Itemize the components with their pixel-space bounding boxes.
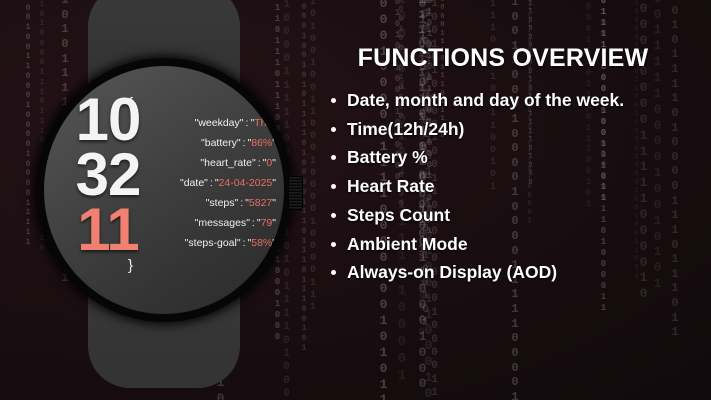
bullet-dot-icon [331, 127, 336, 132]
json-key: steps-goal [188, 237, 236, 249]
json-key: date [184, 177, 204, 189]
json-row: "date":"24-04-2025" [126, 178, 278, 189]
json-row: "steps":"5827" [126, 198, 278, 209]
watch-dial: 10 32 11 { "weekday":"Thu""battery":"86%… [44, 66, 284, 314]
json-value: 86% [251, 137, 272, 149]
bullet-dot-icon [331, 184, 336, 189]
json-quote: " [240, 117, 244, 129]
json-value: 58% [251, 237, 272, 249]
bullet-label: Ambient Mode [347, 234, 468, 254]
json-quote: " [272, 117, 276, 129]
json-key: steps [209, 197, 234, 209]
bullet-dot-icon [331, 213, 336, 218]
json-quote: " [272, 137, 276, 149]
bullet-item: Date, month and day of the week. [325, 88, 690, 114]
json-colon: : [241, 137, 248, 149]
bullet-label: Date, month and day of the week. [347, 90, 624, 110]
json-quote: " [272, 217, 276, 229]
json-colon: : [256, 157, 263, 169]
bullet-item: Steps Count [325, 203, 690, 229]
json-colon: : [250, 217, 257, 229]
slide-canvas: 0 1 1 1 0 0 1 0 1 0 1 0 0 1 0 0 1 1 0 0 … [0, 0, 711, 400]
functions-bullet-list: Date, month and day of the week.Time(12h… [325, 88, 690, 289]
json-value: 24-04-2025 [219, 177, 273, 189]
bullet-item: Battery % [325, 145, 690, 171]
json-colon: : [208, 177, 215, 189]
json-colon: : [241, 237, 248, 249]
json-value: 79 [261, 217, 273, 229]
json-close-brace: } [128, 258, 278, 273]
json-quote: " [272, 177, 276, 189]
bullet-item: Always-on Display (AOD) [325, 260, 690, 286]
json-row-list: "weekday":"Thu""battery":"86%""heart_rat… [126, 118, 278, 249]
json-quote: " [272, 157, 276, 169]
page-title: FUNCTIONS OVERVIEW [338, 44, 668, 73]
functions-overview-panel: FUNCTIONS OVERVIEW Date, month and day o… [320, 0, 711, 400]
crown-button[interactable] [288, 176, 303, 210]
json-value: Thu [254, 117, 272, 129]
json-key: battery [205, 137, 237, 149]
bullet-dot-icon [331, 242, 336, 247]
bullet-label: Heart Rate [347, 176, 435, 196]
bullet-label: Steps Count [347, 205, 450, 225]
smartwatch-illustration: 10 32 11 { "weekday":"Thu""battery":"86%… [0, 0, 320, 400]
bullet-label: Battery % [347, 147, 428, 167]
json-value: 5827 [249, 197, 272, 209]
bullet-label: Always-on Display (AOD) [347, 262, 557, 282]
bullet-dot-icon [331, 270, 336, 275]
json-row: "heart_rate":"0" [126, 158, 278, 169]
bullet-item: Time(12h/24h) [325, 117, 690, 143]
watch-json-panel: { "weekday":"Thu""battery":"86%""heart_r… [126, 96, 278, 273]
json-row: "battery":"86%" [126, 138, 278, 149]
json-row: "steps-goal":"58%" [126, 238, 278, 249]
json-key: messages [198, 217, 246, 229]
bullet-item: Heart Rate [325, 174, 690, 200]
json-quote: " [272, 237, 276, 249]
json-row: "messages":"79" [126, 218, 278, 229]
json-open-brace: { [128, 96, 278, 111]
bullet-item: Ambient Mode [325, 232, 690, 258]
json-row: "weekday":"Thu" [126, 118, 278, 129]
bullet-label: Time(12h/24h) [347, 119, 464, 139]
json-quote: " [272, 197, 276, 209]
bullet-dot-icon [331, 98, 336, 103]
json-key: weekday [198, 117, 239, 129]
json-key: heart_rate [204, 157, 252, 169]
bullet-dot-icon [331, 155, 336, 160]
